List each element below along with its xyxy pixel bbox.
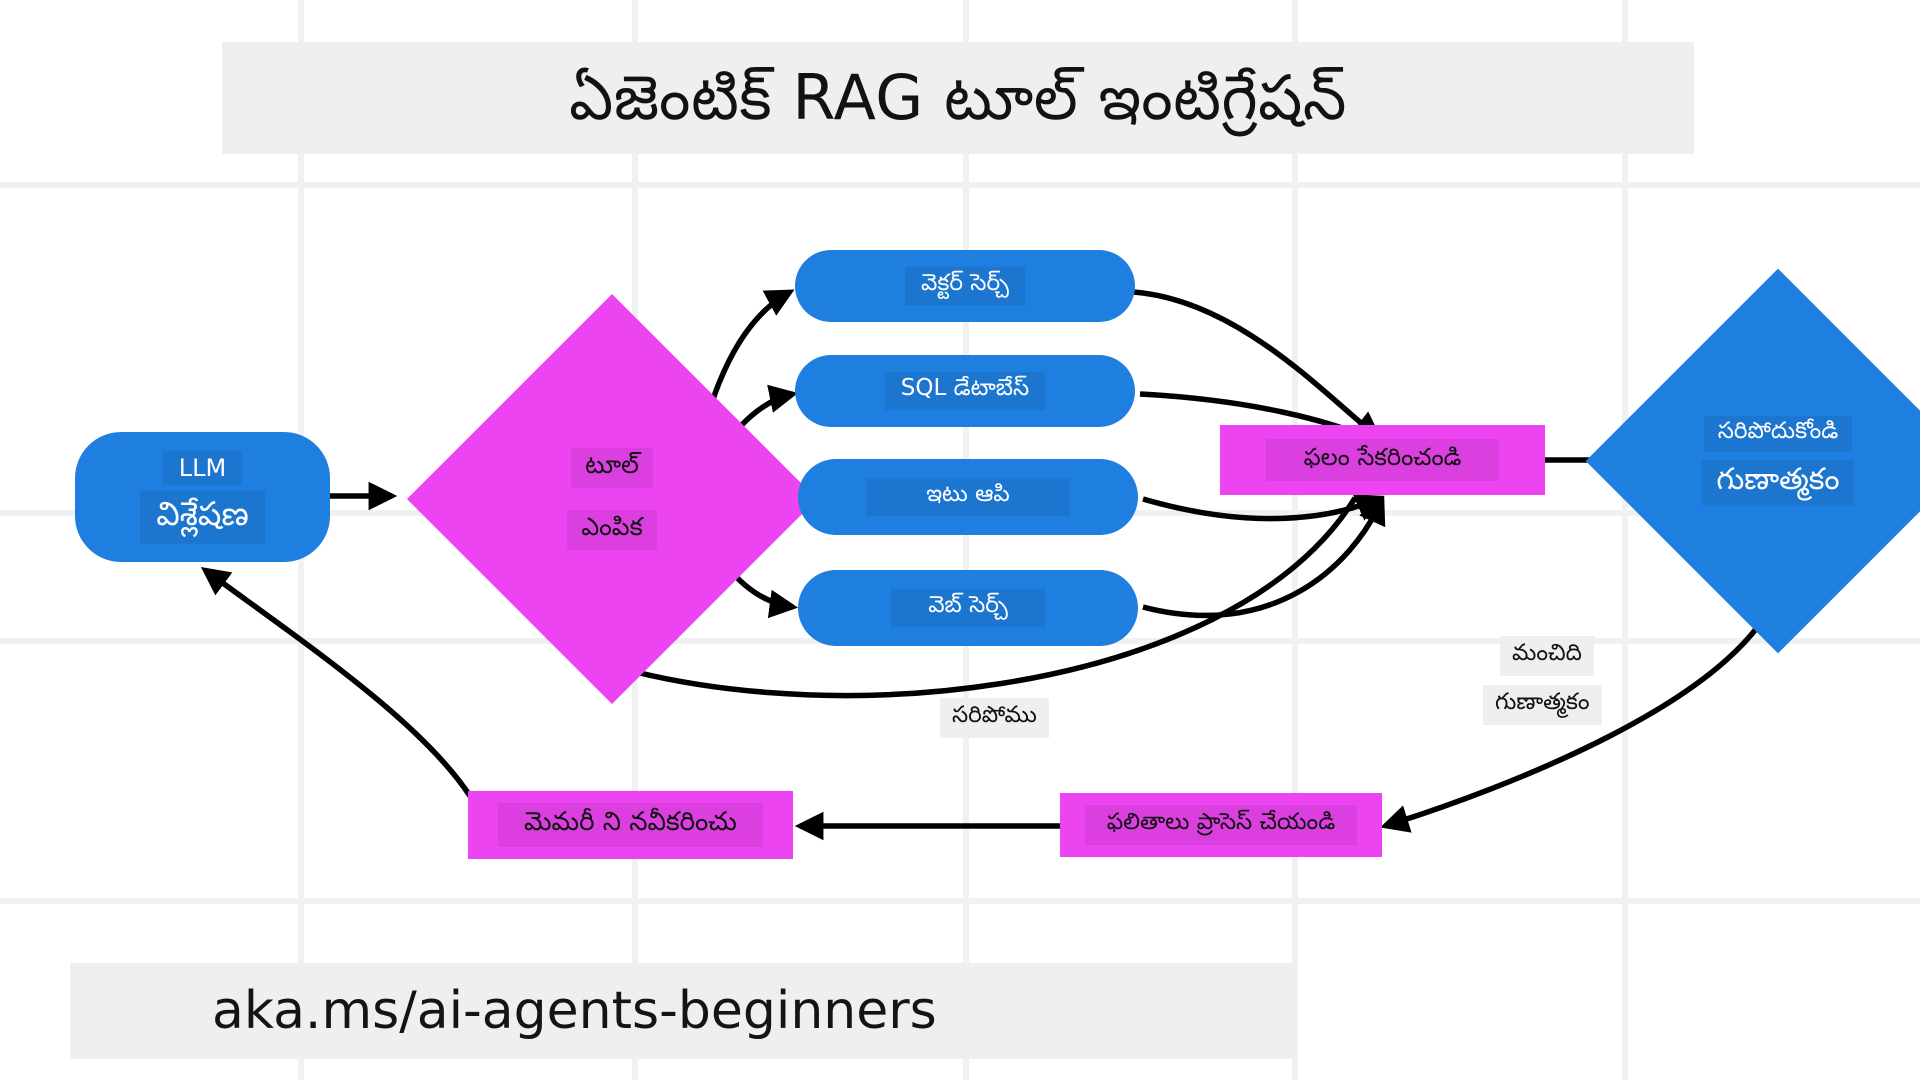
node-process-results-label: ఫలితాలు ప్రాసెస్ చేయండి [1085, 805, 1357, 845]
grid-line-horizontal [0, 182, 1920, 188]
grid-line-vertical [963, 0, 969, 1080]
node-llm[interactable]: LLM విశ్లేషణ [75, 432, 330, 562]
diagram-canvas: ఏజెంటిక్ RAG టూల్ ఇంటిగ్రేషన్ LLM విశ్లే… [0, 0, 1920, 1080]
node-tool-sql-database-label: SQL డేటాబేస్ [885, 372, 1045, 410]
node-update-memory-label: మెమరీ ని నవీకరించు [498, 803, 763, 847]
node-llm-line2: విశ్లేషణ [140, 491, 264, 544]
node-process-results[interactable]: ఫలితాలు ప్రాసెస్ చేయండి [1060, 793, 1382, 857]
edge-memory-to-llm [205, 570, 470, 796]
node-tool-selection-labels: టూల్ ఎంపిక [467, 354, 757, 644]
node-tool-vector-search-label: వెక్టర్ సెర్చ్ [905, 267, 1025, 305]
node-quality-check[interactable]: సరిపోదుకోండి గుణాత్మకం [1642, 325, 1914, 597]
grid-line-horizontal [0, 898, 1920, 904]
edge-label-good-line2: గుణాత్మకం [1483, 685, 1602, 725]
edge-label-good-line1: మంచిది [1500, 636, 1594, 676]
node-tool-api[interactable]: ఇటు ఆపి [798, 459, 1138, 535]
node-tool-api-label: ఇటు ఆపి [866, 478, 1070, 516]
edge-label-insufficient: సరిపోము [940, 698, 1049, 738]
node-tool-selection-line1: టూల్ [571, 448, 653, 488]
node-tool-selection[interactable]: టూల్ ఎంపిక [467, 354, 757, 644]
node-tool-web-search[interactable]: వెబ్ సెర్చ్ [798, 570, 1138, 646]
node-tool-sql-database[interactable]: SQL డేటాబేస్ [795, 355, 1135, 427]
node-llm-line1: LLM [163, 451, 242, 485]
grid-line-vertical [1622, 0, 1628, 1080]
footer-banner: aka.ms/ai-agents-beginners [70, 963, 1296, 1059]
node-quality-check-labels: సరిపోదుకోండి గుణాత్మకం [1642, 325, 1914, 597]
edge-vector-search-to-collect [1133, 292, 1378, 437]
title-banner: ఏజెంటిక్ RAG టూల్ ఇంటిగ్రేషన్ [222, 42, 1694, 154]
node-tool-selection-line2: ఎంపిక [567, 510, 656, 550]
node-tool-web-search-label: వెబ్ సెర్చ్ [890, 589, 1046, 627]
node-tool-vector-search[interactable]: వెక్టర్ సెర్చ్ [795, 250, 1135, 322]
node-collect-result[interactable]: ఫలం సేకరించండి [1220, 425, 1545, 495]
page-title: ఏజెంటిక్ RAG టూల్ ఇంటిగ్రేషన్ [569, 64, 1347, 132]
edge-web-search-to-collect [1143, 500, 1382, 615]
node-update-memory[interactable]: మెమరీ ని నవీకరించు [468, 791, 793, 859]
node-quality-check-line2: గుణాత్మకం [1702, 460, 1853, 506]
grid-line-vertical [1292, 0, 1298, 1080]
footer-link: aka.ms/ai-agents-beginners [70, 981, 937, 1041]
node-collect-result-label: ఫలం సేకరించండి [1266, 439, 1500, 481]
node-quality-check-line1: సరిపోదుకోండి [1704, 416, 1853, 452]
